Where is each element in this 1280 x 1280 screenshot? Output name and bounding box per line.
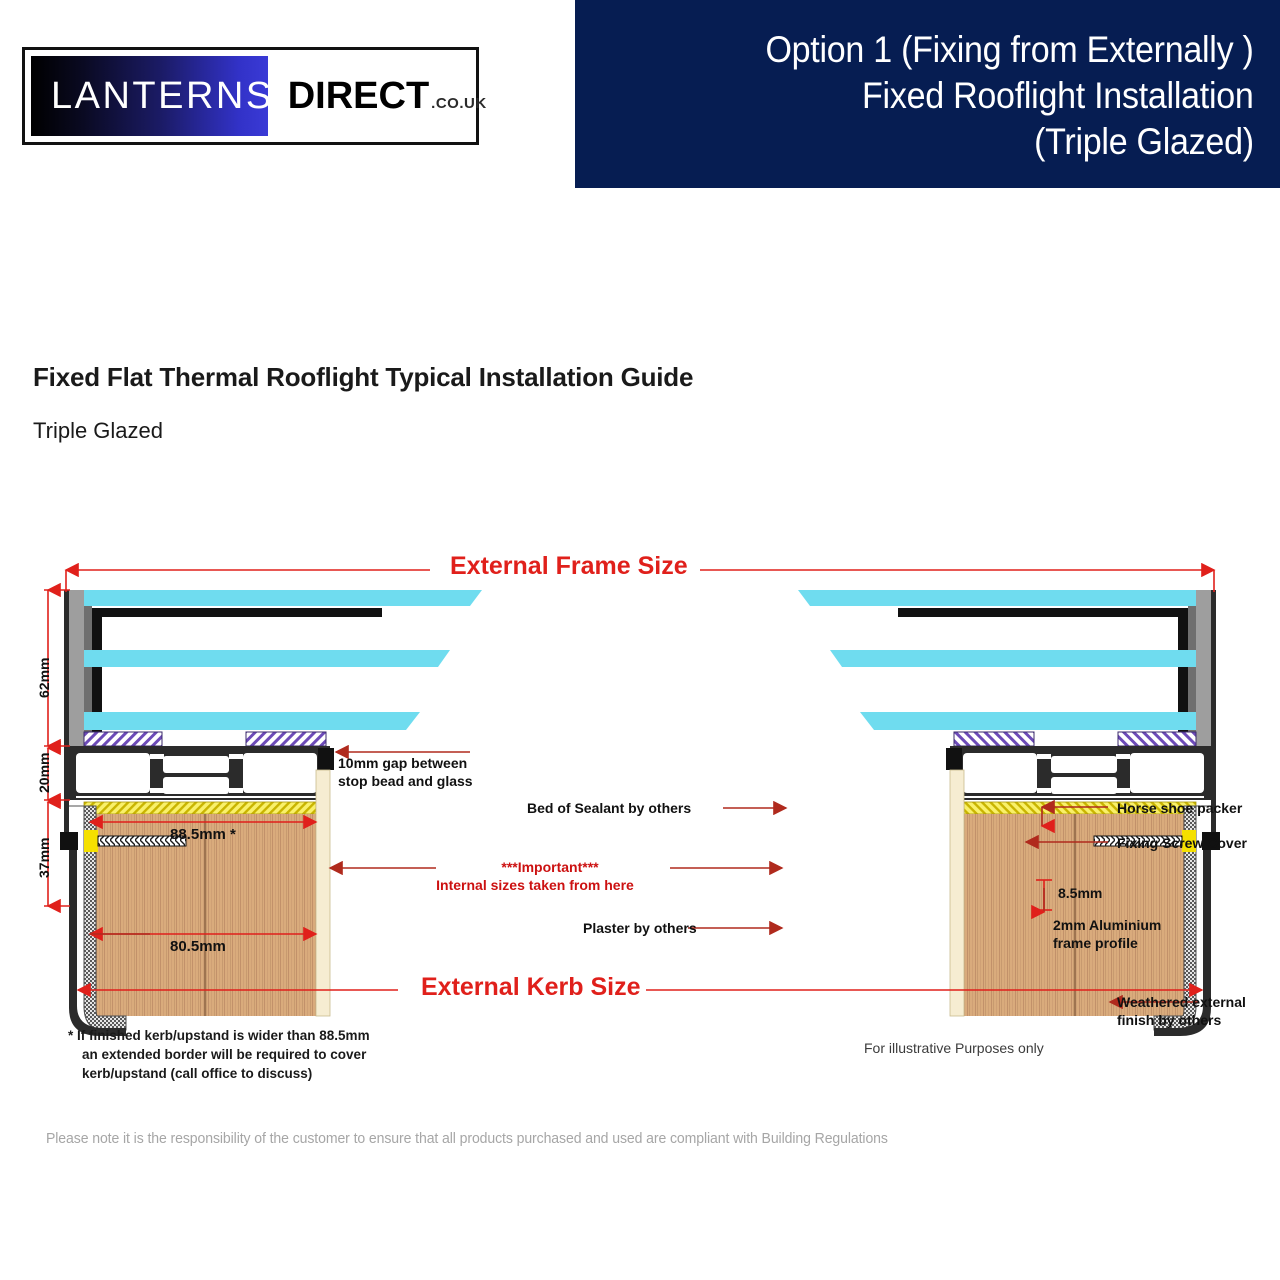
important-line-1: ***Important*** xyxy=(501,859,598,875)
installation-cross-section-diagram: External Frame Size External Kerb Size 6… xyxy=(0,530,1280,1110)
left-section xyxy=(60,590,482,1036)
gap-note: 10mm gap between stop bead and glass xyxy=(338,754,473,790)
banner-line-2: Fixed Rooflight Installation xyxy=(862,73,1254,119)
brand-logo: LANTERNS DIRECT .CO.UK xyxy=(22,47,479,145)
kerb-footnote: * If finished kerb/upstand is wider than… xyxy=(68,1026,408,1083)
weathered-finish-label: Weathered external finish by others xyxy=(1117,993,1246,1029)
weathered-line-1: Weathered external xyxy=(1117,994,1246,1010)
dimension-37mm: 37mm xyxy=(36,838,52,878)
gap-note-line-2: stop bead and glass xyxy=(338,773,473,789)
kerb-footnote-line-3: kerb/upstand (call office to discuss) xyxy=(68,1064,408,1083)
page-subtitle: Triple Glazed xyxy=(33,418,163,444)
logo-word-lanterns: LANTERNS xyxy=(31,75,274,118)
kerb-footnote-line-2: an extended border will be required to c… xyxy=(68,1045,408,1064)
gap-note-line-1: 10mm gap between xyxy=(338,755,467,771)
banner-line-3: (Triple Glazed) xyxy=(1034,119,1254,165)
aluminium-profile-left xyxy=(68,746,330,800)
dimension-20mm: 20mm xyxy=(36,753,52,793)
logo-word-direct: DIRECT xyxy=(274,75,429,118)
aluminium-profile-right xyxy=(950,746,1212,800)
aluminium-frame-profile-label: 2mm Aluminium frame profile xyxy=(1053,916,1161,952)
dimension-8-5mm: 8.5mm xyxy=(1058,885,1102,901)
illustrative-purposes-note: For illustrative Purposes only xyxy=(864,1040,1044,1056)
horse-shoe-packer-label: Horse shoe packer xyxy=(1117,799,1242,817)
external-kerb-size-label: External Kerb Size xyxy=(421,973,641,1002)
kerb-footnote-line-1: * If finished kerb/upstand is wider than… xyxy=(68,1026,408,1045)
external-frame-size-label: External Frame Size xyxy=(450,552,688,581)
alu-profile-line-1: 2mm Aluminium xyxy=(1053,917,1161,933)
banner-line-1: Option 1 (Fixing from Externally ) xyxy=(766,27,1254,73)
dimension-88-5mm: 88.5mm * xyxy=(170,826,236,843)
dimension-80-5mm: 80.5mm xyxy=(170,938,226,955)
alu-profile-line-2: frame profile xyxy=(1053,935,1138,951)
building-regulations-note: Please note it is the responsibility of … xyxy=(46,1131,888,1147)
logo-tld: .CO.UK xyxy=(429,81,487,112)
bed-of-sealant-label: Bed of Sealant by others xyxy=(527,799,691,817)
important-line-2: Internal sizes taken from here xyxy=(436,876,634,894)
dimension-62mm: 62mm xyxy=(36,658,52,698)
fixing-screw-cover-label: Fixing Screw Cover xyxy=(1117,834,1247,852)
important-note: ***Important*** Internal sizes taken fro… xyxy=(450,858,650,894)
header-banner: Option 1 (Fixing from Externally ) Fixed… xyxy=(575,0,1280,188)
plaster-label: Plaster by others xyxy=(583,919,697,937)
page-title: Fixed Flat Thermal Rooflight Typical Ins… xyxy=(33,362,693,393)
weathered-line-2: finish by others xyxy=(1117,1012,1221,1028)
